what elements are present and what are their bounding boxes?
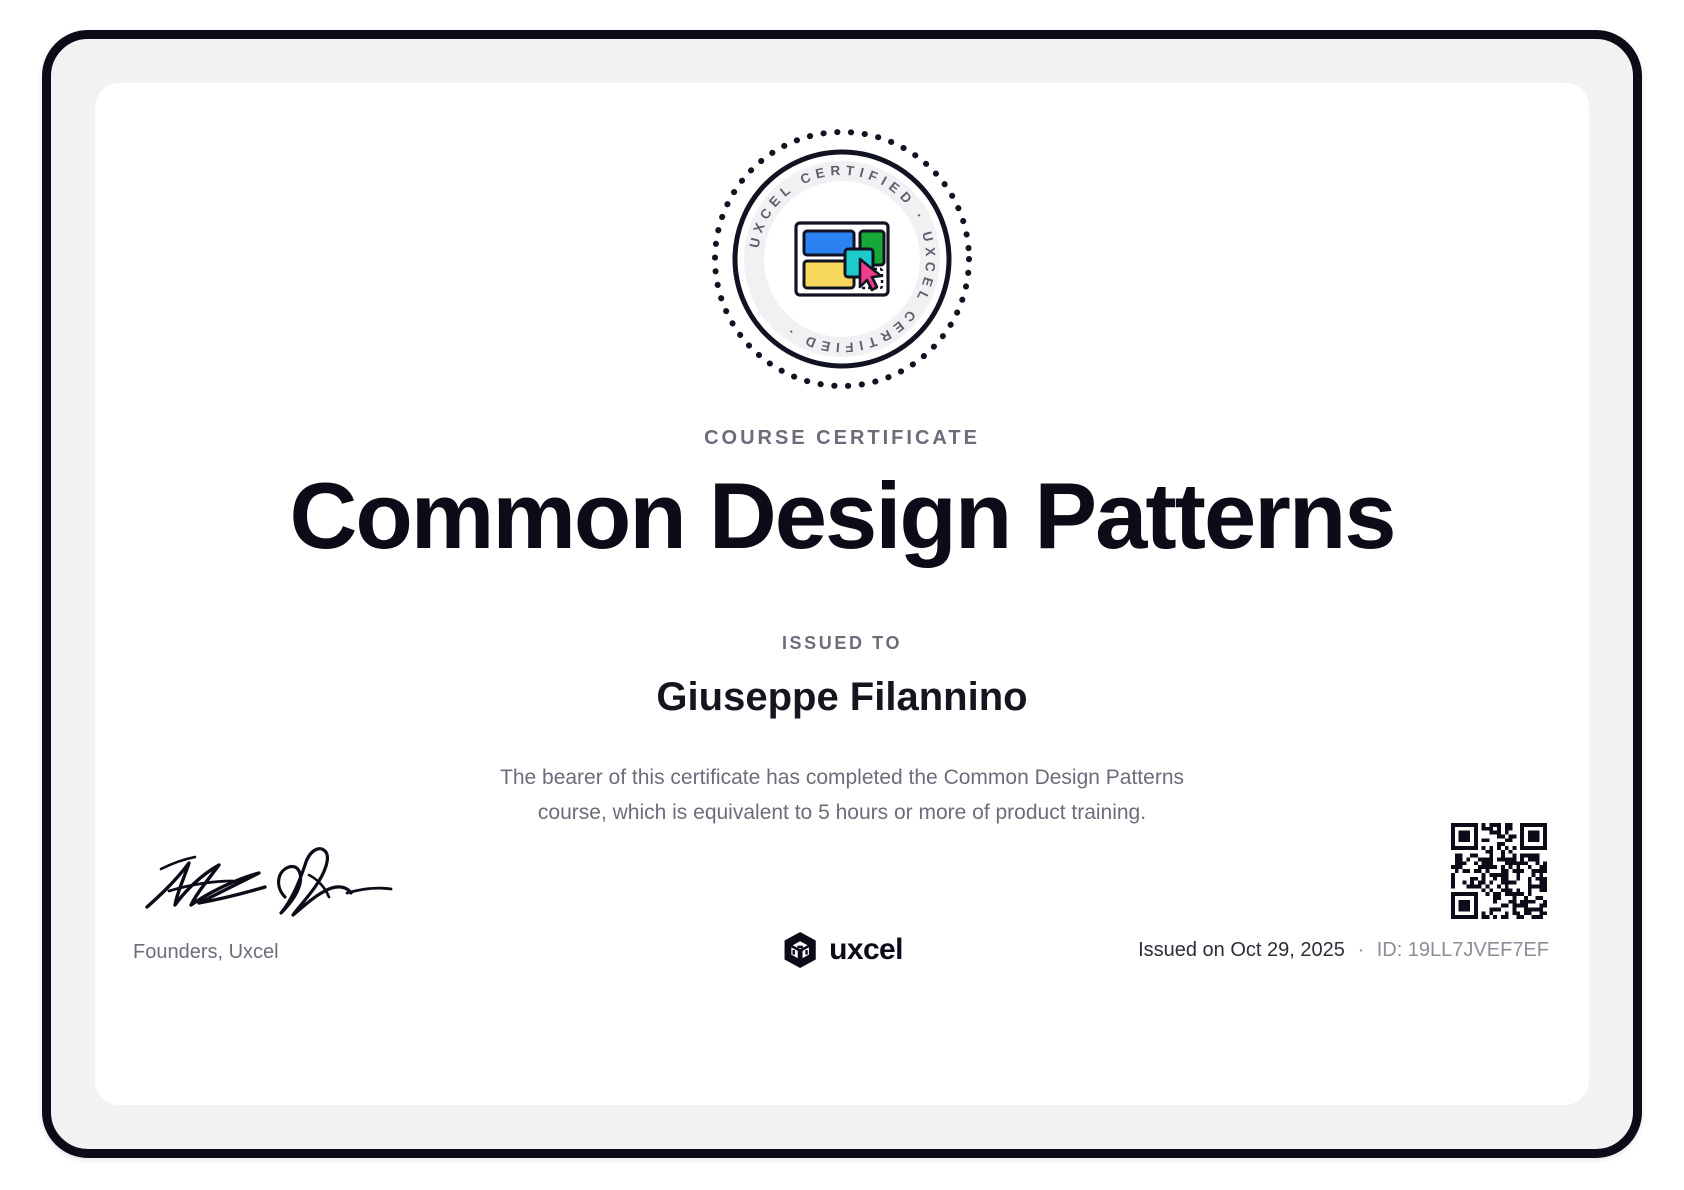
founder-signatures bbox=[133, 835, 433, 923]
kicker-issued-to: ISSUED TO bbox=[95, 633, 1589, 654]
certificate-frame: UXCEL CERTIFIED · UXCEL CERTIFIED · COUR… bbox=[42, 30, 1642, 1158]
kicker-course-certificate: COURSE CERTIFICATE bbox=[95, 427, 1589, 450]
layout-patterns-icon bbox=[796, 223, 888, 295]
meta-separator: · bbox=[1350, 939, 1371, 961]
certificate-card: UXCEL CERTIFIED · UXCEL CERTIFIED · COUR… bbox=[95, 83, 1589, 1105]
uxcel-certified-seal: UXCEL CERTIFIED · UXCEL CERTIFIED · bbox=[708, 125, 976, 393]
uxcel-wordmark: uxcel bbox=[829, 933, 903, 967]
signature-marks bbox=[133, 835, 433, 923]
uxcel-brand: uxcel bbox=[781, 931, 903, 969]
issue-date: Issued on Oct 29, 2025 bbox=[1138, 939, 1345, 961]
recipient-name: Giuseppe Filannino bbox=[95, 675, 1589, 720]
certificate-meta: Issued on Oct 29, 2025 · ID: 19LL7JVEF7E… bbox=[1138, 939, 1549, 962]
page-title: Common Design Patterns bbox=[95, 463, 1589, 568]
founders-label: Founders, Uxcel bbox=[133, 941, 279, 964]
verification-qr-code[interactable] bbox=[1451, 823, 1547, 919]
uxcel-hexagon-logo-icon bbox=[781, 931, 819, 969]
certificate-id: ID: 19LL7JVEF7EF bbox=[1377, 939, 1549, 961]
qr-code-svg bbox=[1451, 823, 1547, 919]
seal-svg: UXCEL CERTIFIED · UXCEL CERTIFIED · bbox=[708, 125, 976, 393]
certificate-description: The bearer of this certificate has compl… bbox=[472, 761, 1212, 830]
